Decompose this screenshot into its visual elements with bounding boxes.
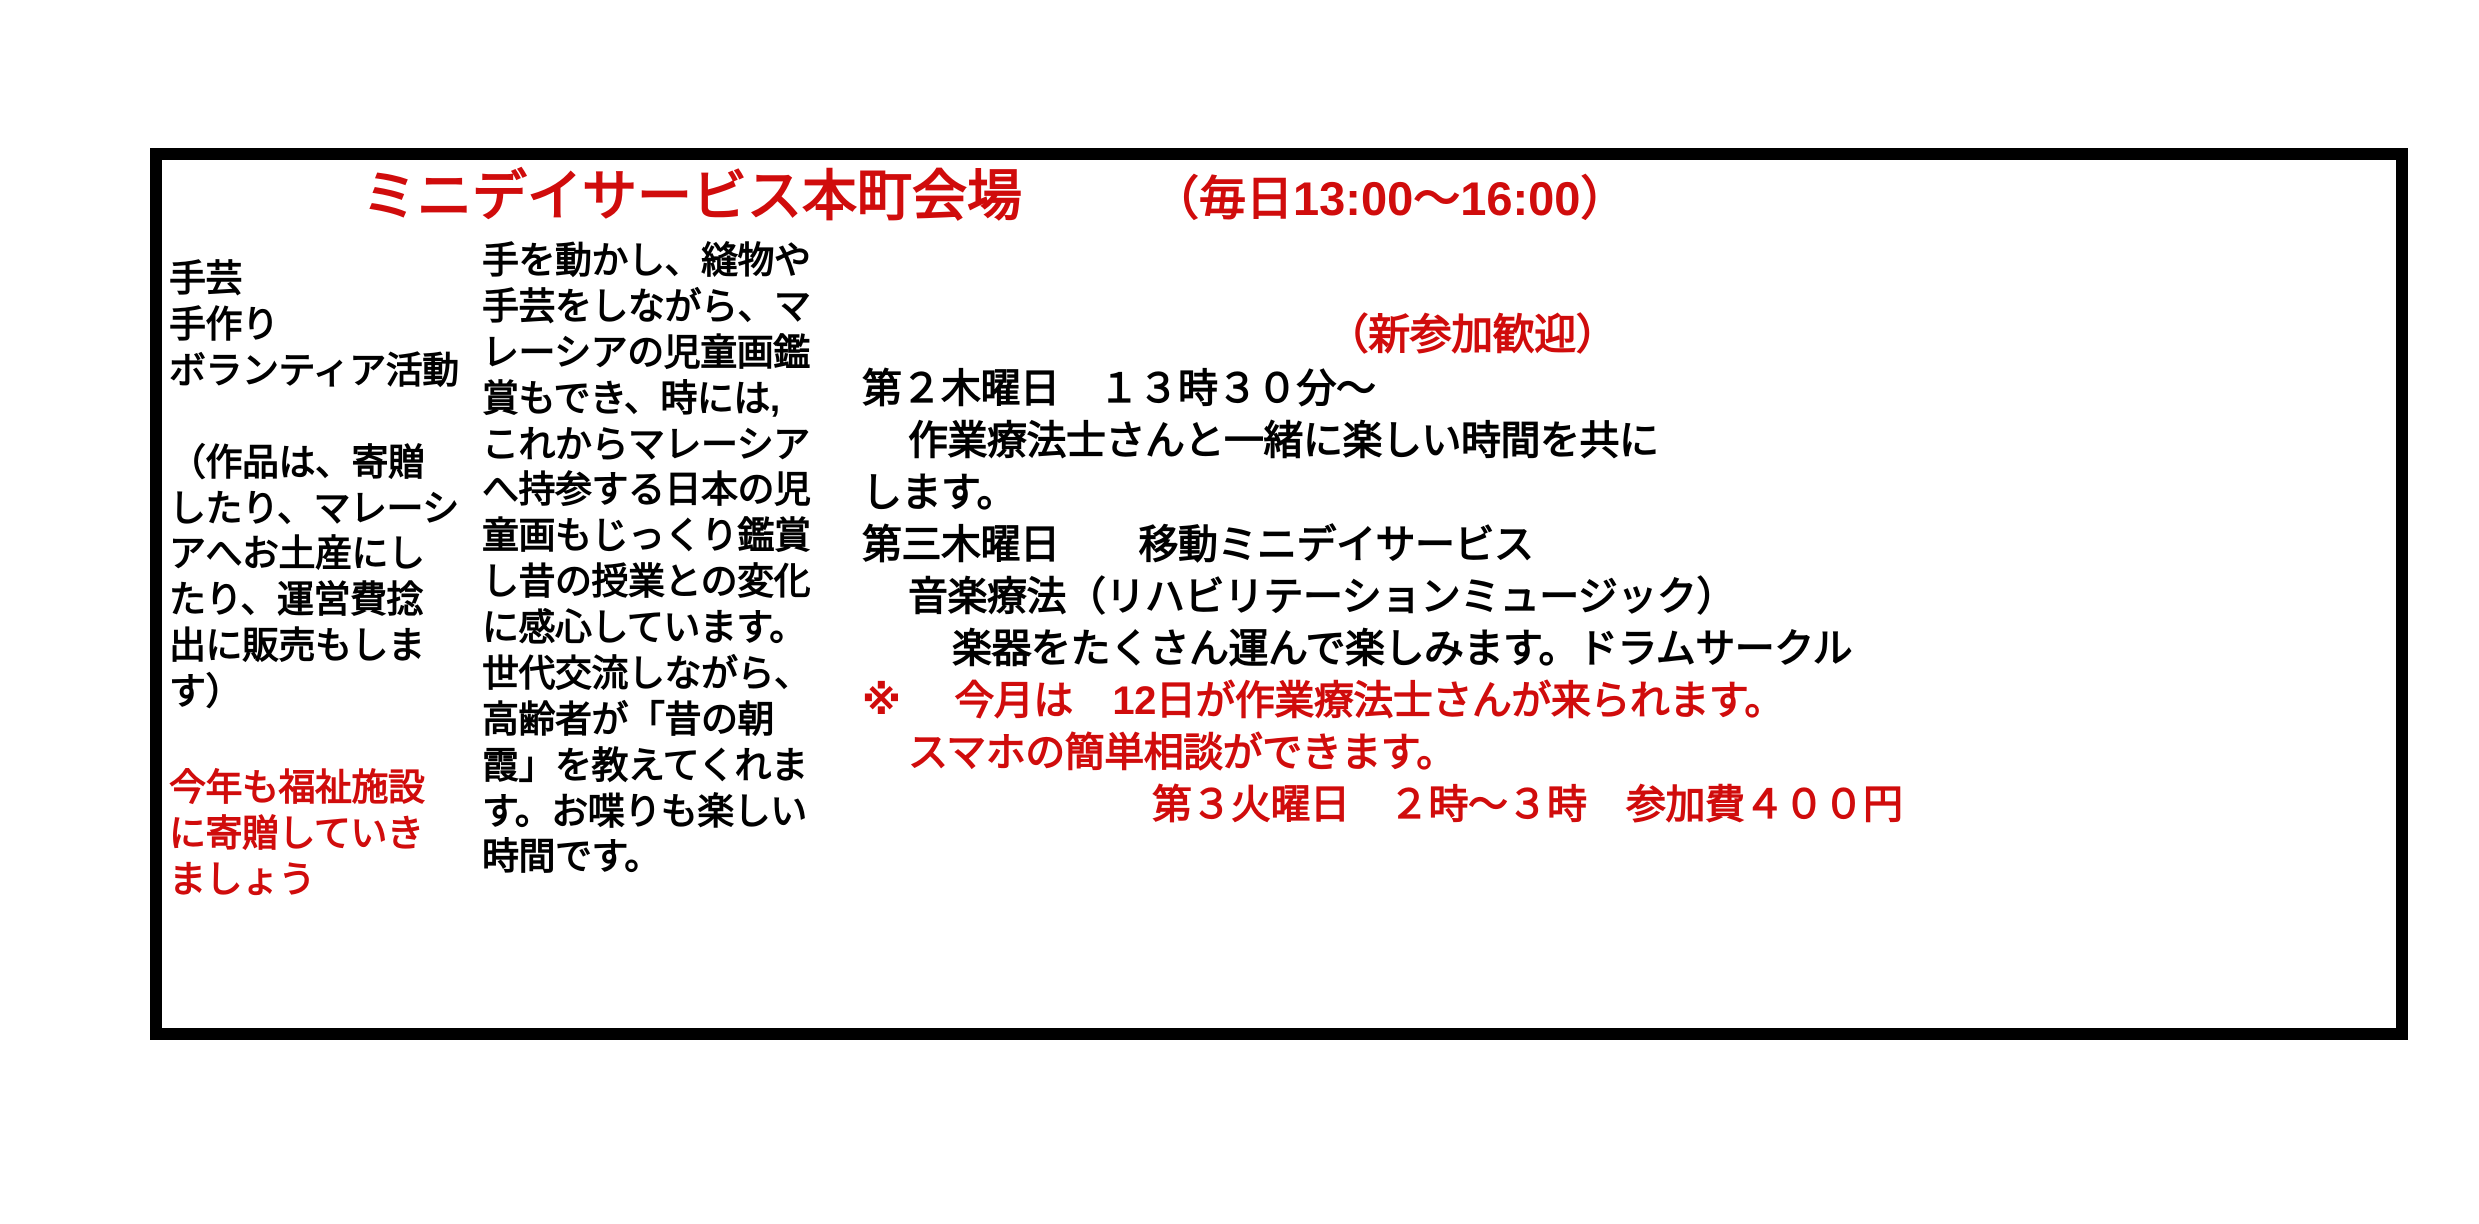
right-column: （新参加歓迎） 第２木曜日 １３時３０分〜 作業療法士さんと一緒に楽しい時間を共… [862, 308, 2392, 831]
schedule-line-music-therapy: 音楽療法（リハビリテーションミュージック） [862, 571, 2392, 623]
schedule-line-therapist-cont: します。 [862, 467, 2392, 519]
poster-header: ミニデイサービス本町会場 （毎日13:00〜16:00） [162, 168, 2396, 226]
fee-line: 第３火曜日 ２時〜３時 参加費４００円 [862, 779, 2392, 831]
activity-list: 手芸 手作り ボランティア活動 [169, 256, 459, 394]
notice-row: ※今月は 12日が作業療法士さんが来られます。 [862, 675, 2392, 727]
notice-marker-icon: ※ [862, 679, 900, 723]
description-paragraph-1: 手を動かし、縫物や手芸をしながら、マレーシアの児童画鑑賞もでき、時には, これか… [482, 238, 822, 651]
donation-highlight-text: 今年も福祉施設に寄贈していきましょう [169, 765, 459, 903]
poster-body: 手芸 手作り ボランティア活動 （作品は、寄贈したり、マレーシアへお土産にしたり… [162, 238, 2396, 1038]
schedule-line-therapist: 作業療法士さんと一緒に楽しい時間を共に [862, 415, 2392, 467]
activity-item: ボランティア活動 [169, 348, 459, 394]
craft-note-text: （作品は、寄贈したり、マレーシアへお土産にしたり、運営費捻出に販売もします） [169, 440, 459, 715]
new-participants-welcome: （新参加歓迎） [862, 308, 2392, 363]
notice-text-line2: スマホの簡単相談ができます。 [862, 727, 2392, 779]
schedule-line-second-thursday: 第２木曜日 １３時３０分〜 [862, 363, 2392, 415]
activity-item: 手芸 [169, 256, 459, 302]
middle-column: 手を動かし、縫物や手芸をしながら、マレーシアの児童画鑑賞もでき、時には, これか… [482, 238, 822, 880]
poster-frame: ミニデイサービス本町会場 （毎日13:00〜16:00） 手芸 手作り ボランテ… [150, 148, 2408, 1040]
schedule-line-third-thursday: 第三木曜日 移動ミニデイサービス [862, 519, 2392, 571]
page-title: ミニデイサービス本町会場 [362, 168, 1022, 226]
description-paragraph-2: 世代交流しながら、高齢者が「昔の朝霞」を教えてくれます。お喋りも楽しい時間です。 [482, 651, 822, 880]
title-time-range: （毎日13:00〜16:00） [1152, 174, 1627, 223]
schedule-line-drum-circle: 楽器をたくさん運んで楽しみます。ドラムサークル [862, 623, 2392, 675]
left-column: 手芸 手作り ボランティア活動 （作品は、寄贈したり、マレーシアへお土産にしたり… [169, 256, 459, 903]
notice-text-line1: 今月は 12日が作業療法士さんが来られます。 [954, 679, 1784, 723]
activity-item: 手作り [169, 302, 459, 348]
